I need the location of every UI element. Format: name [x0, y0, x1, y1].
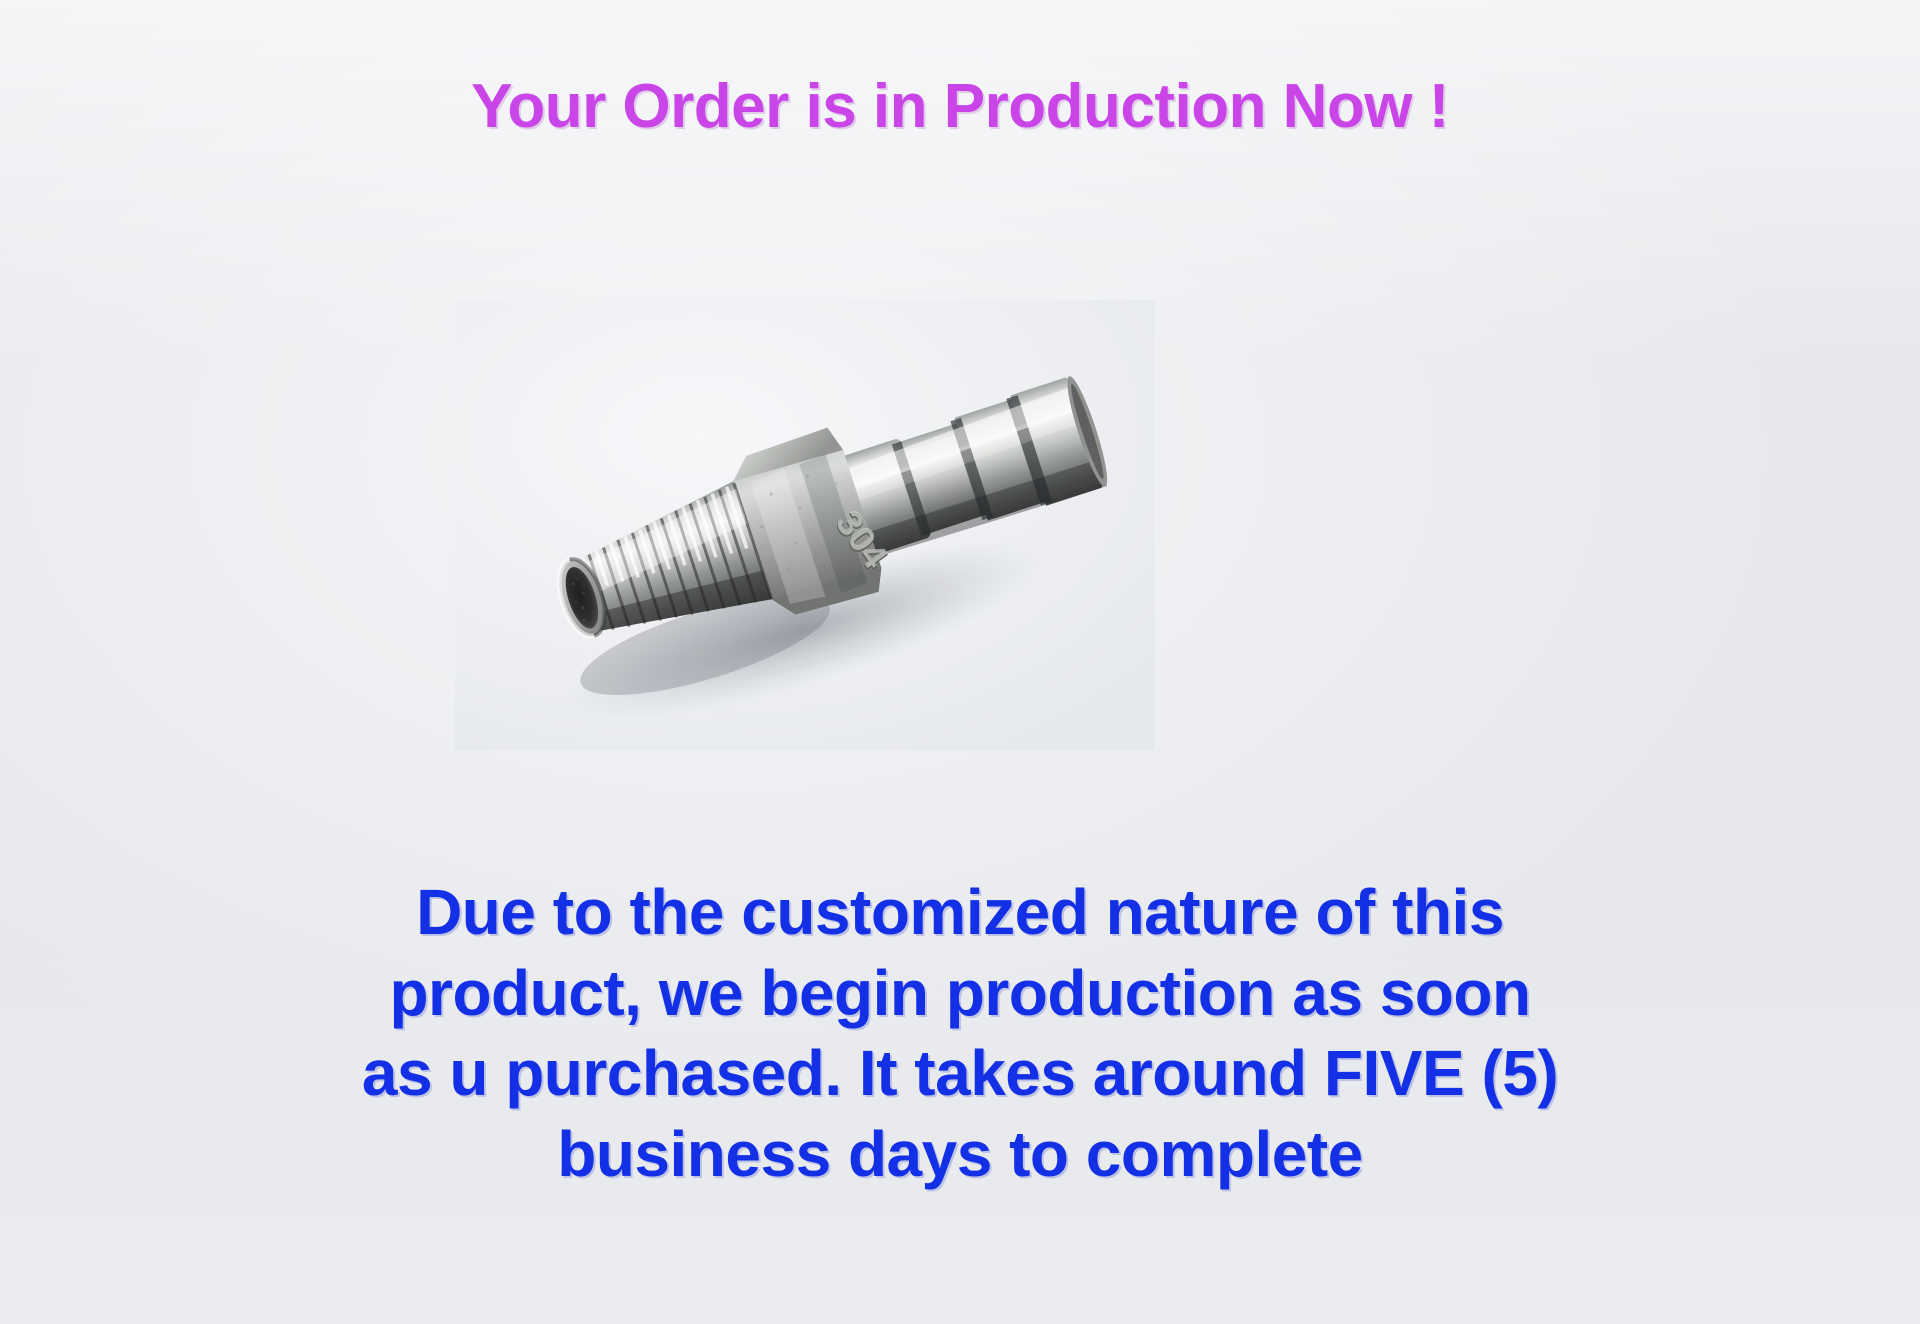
- product-photo: 304 304: [455, 300, 1155, 750]
- promo-banner: Your Order is in Production Now !: [0, 0, 1920, 1324]
- headline-text: Your Order is in Production Now !: [0, 74, 1920, 139]
- body-copy: Due to the customized nature of this pro…: [90, 872, 1830, 1195]
- body-copy-line-3: as u purchased. It takes around FIVE (5): [90, 1033, 1830, 1114]
- body-copy-line-1: Due to the customized nature of this: [90, 872, 1830, 953]
- body-copy-line-2: product, we begin production as soon: [90, 953, 1830, 1034]
- body-copy-line-4: business days to complete: [90, 1114, 1830, 1195]
